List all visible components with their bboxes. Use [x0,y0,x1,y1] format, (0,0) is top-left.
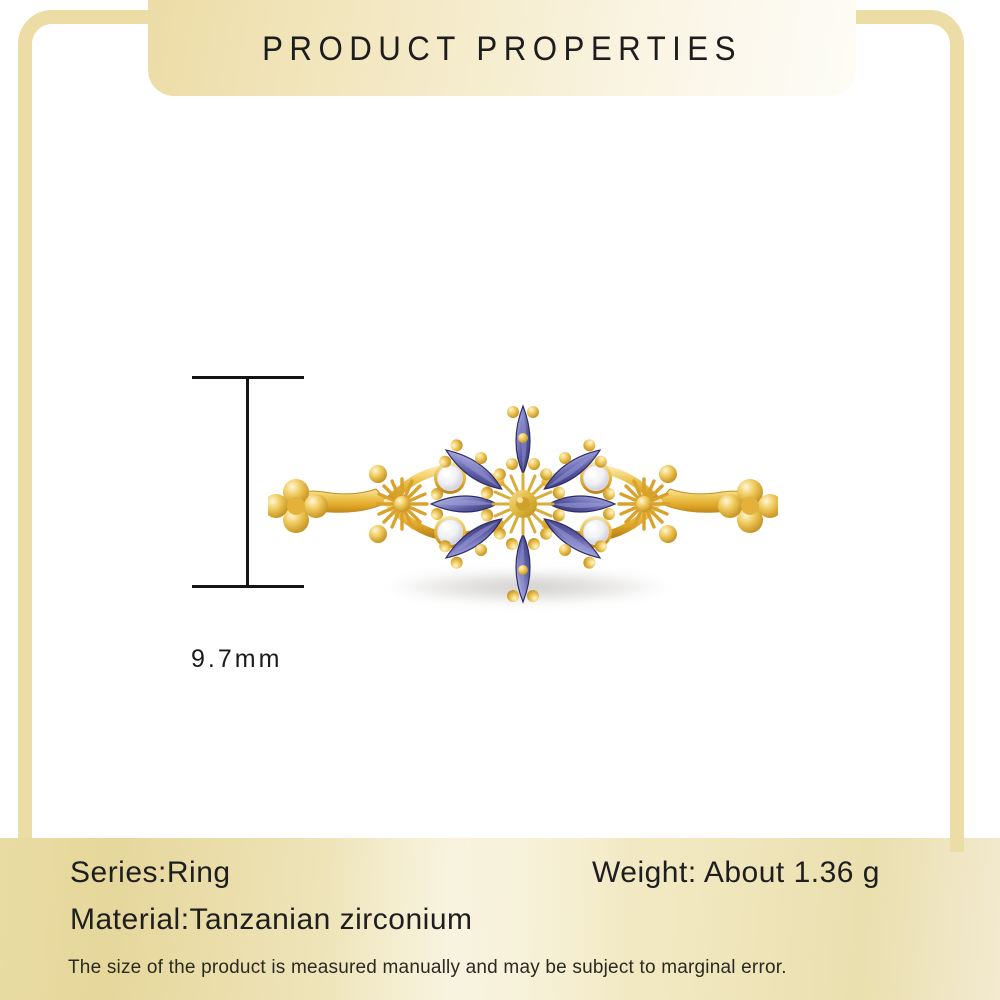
dimension-label: 9.7mm [191,645,282,674]
frame-stub-right [950,838,964,852]
header-ribbon: PRODUCT PROPERTIES [148,0,856,96]
material-text: Material:Tanzanian zirconium [70,903,473,937]
product-image [268,352,778,642]
disclaimer-text: The size of the product is measured manu… [68,957,787,979]
dimension-stem [246,376,249,588]
product-properties-page: PRODUCT PROPERTIES 9.7mm [0,0,1000,1000]
band-clover-right [718,479,778,533]
weight-text: Weight: About 1.36 g [592,856,880,890]
series-text: Series:Ring [70,856,231,890]
band-clover-left [268,479,328,533]
center-filigree [493,474,553,534]
ring-illustration [268,352,778,642]
page-title: PRODUCT PROPERTIES [176,30,827,69]
